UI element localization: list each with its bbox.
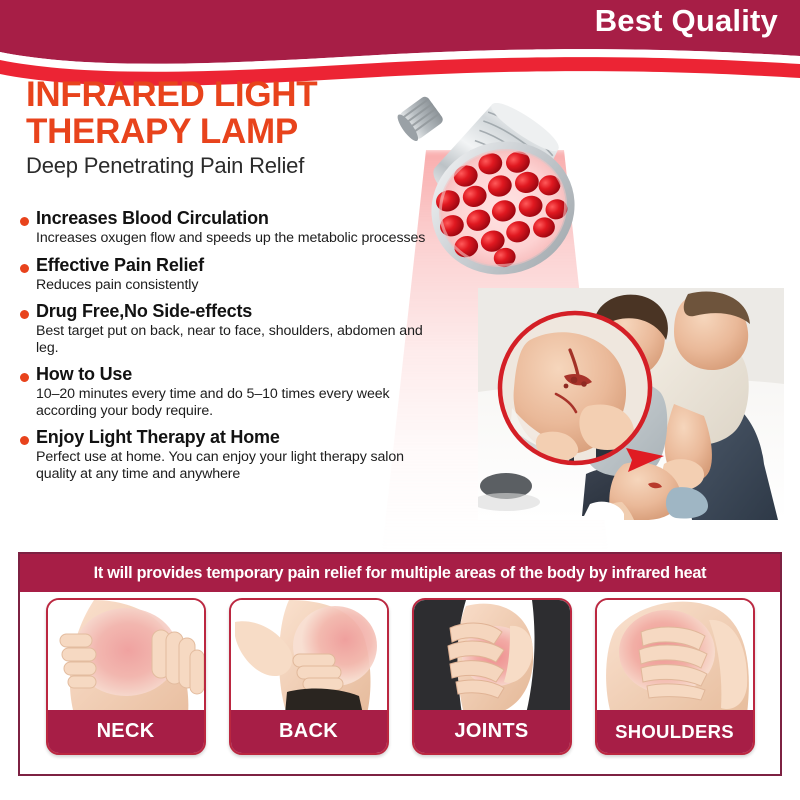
card-label-neck: NECK bbox=[48, 710, 204, 753]
page-subtitle: Deep Penetrating Pain Relief bbox=[26, 153, 426, 179]
body-area-card-neck[interactable]: NECK bbox=[46, 598, 206, 755]
page-title-line1: INFRARED LIGHT bbox=[26, 76, 426, 113]
product-infographic: Best Quality INFRARED LIGHT THERAPY LAMP… bbox=[0, 0, 800, 800]
body-area-card-list: NECK bbox=[20, 598, 780, 774]
list-item: Enjoy Light Therapy at Home Perfect use … bbox=[12, 427, 427, 482]
knee-joint-pain-photo bbox=[414, 600, 570, 714]
knee-injury-photo bbox=[478, 288, 784, 520]
best-quality-badge: Best Quality bbox=[595, 3, 778, 39]
wound-magnifier-inset bbox=[500, 313, 650, 463]
feature-body: Reduces pain consistently bbox=[36, 277, 427, 294]
card-label-shoulders: SHOULDERS bbox=[597, 710, 753, 753]
feature-heading: Effective Pain Relief bbox=[36, 255, 427, 276]
bullet-dot-icon bbox=[20, 264, 29, 273]
feature-heading: Increases Blood Circulation bbox=[36, 208, 427, 229]
shoulder-pain-photo bbox=[597, 600, 753, 714]
body-area-card-back[interactable]: BACK bbox=[229, 598, 389, 755]
back-pain-photo bbox=[231, 600, 387, 714]
feature-body: Perfect use at home. You can enjoy your … bbox=[36, 449, 427, 482]
body-area-card-shoulders[interactable]: SHOULDERS bbox=[595, 598, 755, 755]
product-title-block: INFRARED LIGHT THERAPY LAMP Deep Penetra… bbox=[26, 76, 426, 179]
feature-body: 10–20 minutes every time and do 5–10 tim… bbox=[36, 386, 427, 419]
bullet-dot-icon bbox=[20, 217, 29, 226]
page-title-line2: THERAPY LAMP bbox=[26, 113, 426, 150]
card-label-joints: JOINTS bbox=[414, 710, 570, 753]
feature-heading: How to Use bbox=[36, 364, 427, 385]
card-label-back: BACK bbox=[231, 710, 387, 753]
list-item: How to Use 10–20 minutes every time and … bbox=[12, 364, 427, 419]
list-item: Drug Free,No Side-effects Best target pu… bbox=[12, 301, 427, 356]
bullet-dot-icon bbox=[20, 373, 29, 382]
neck-pain-photo bbox=[48, 600, 204, 714]
list-item: Effective Pain Relief Reduces pain consi… bbox=[12, 255, 427, 294]
list-item: Increases Blood Circulation Increases ox… bbox=[12, 208, 427, 247]
feature-heading: Enjoy Light Therapy at Home bbox=[36, 427, 427, 448]
bullet-dot-icon bbox=[20, 310, 29, 319]
feature-body: Best target put on back, near to face, s… bbox=[36, 323, 427, 356]
bullet-dot-icon bbox=[20, 436, 29, 445]
feature-body: Increases oxugen flow and speeds up the … bbox=[36, 230, 427, 247]
feature-list: Increases Blood Circulation Increases ox… bbox=[12, 208, 427, 490]
body-area-card-joints[interactable]: JOINTS bbox=[412, 598, 572, 755]
body-areas-section: It will provides temporary pain relief f… bbox=[18, 552, 782, 776]
feature-heading: Drug Free,No Side-effects bbox=[36, 301, 427, 322]
